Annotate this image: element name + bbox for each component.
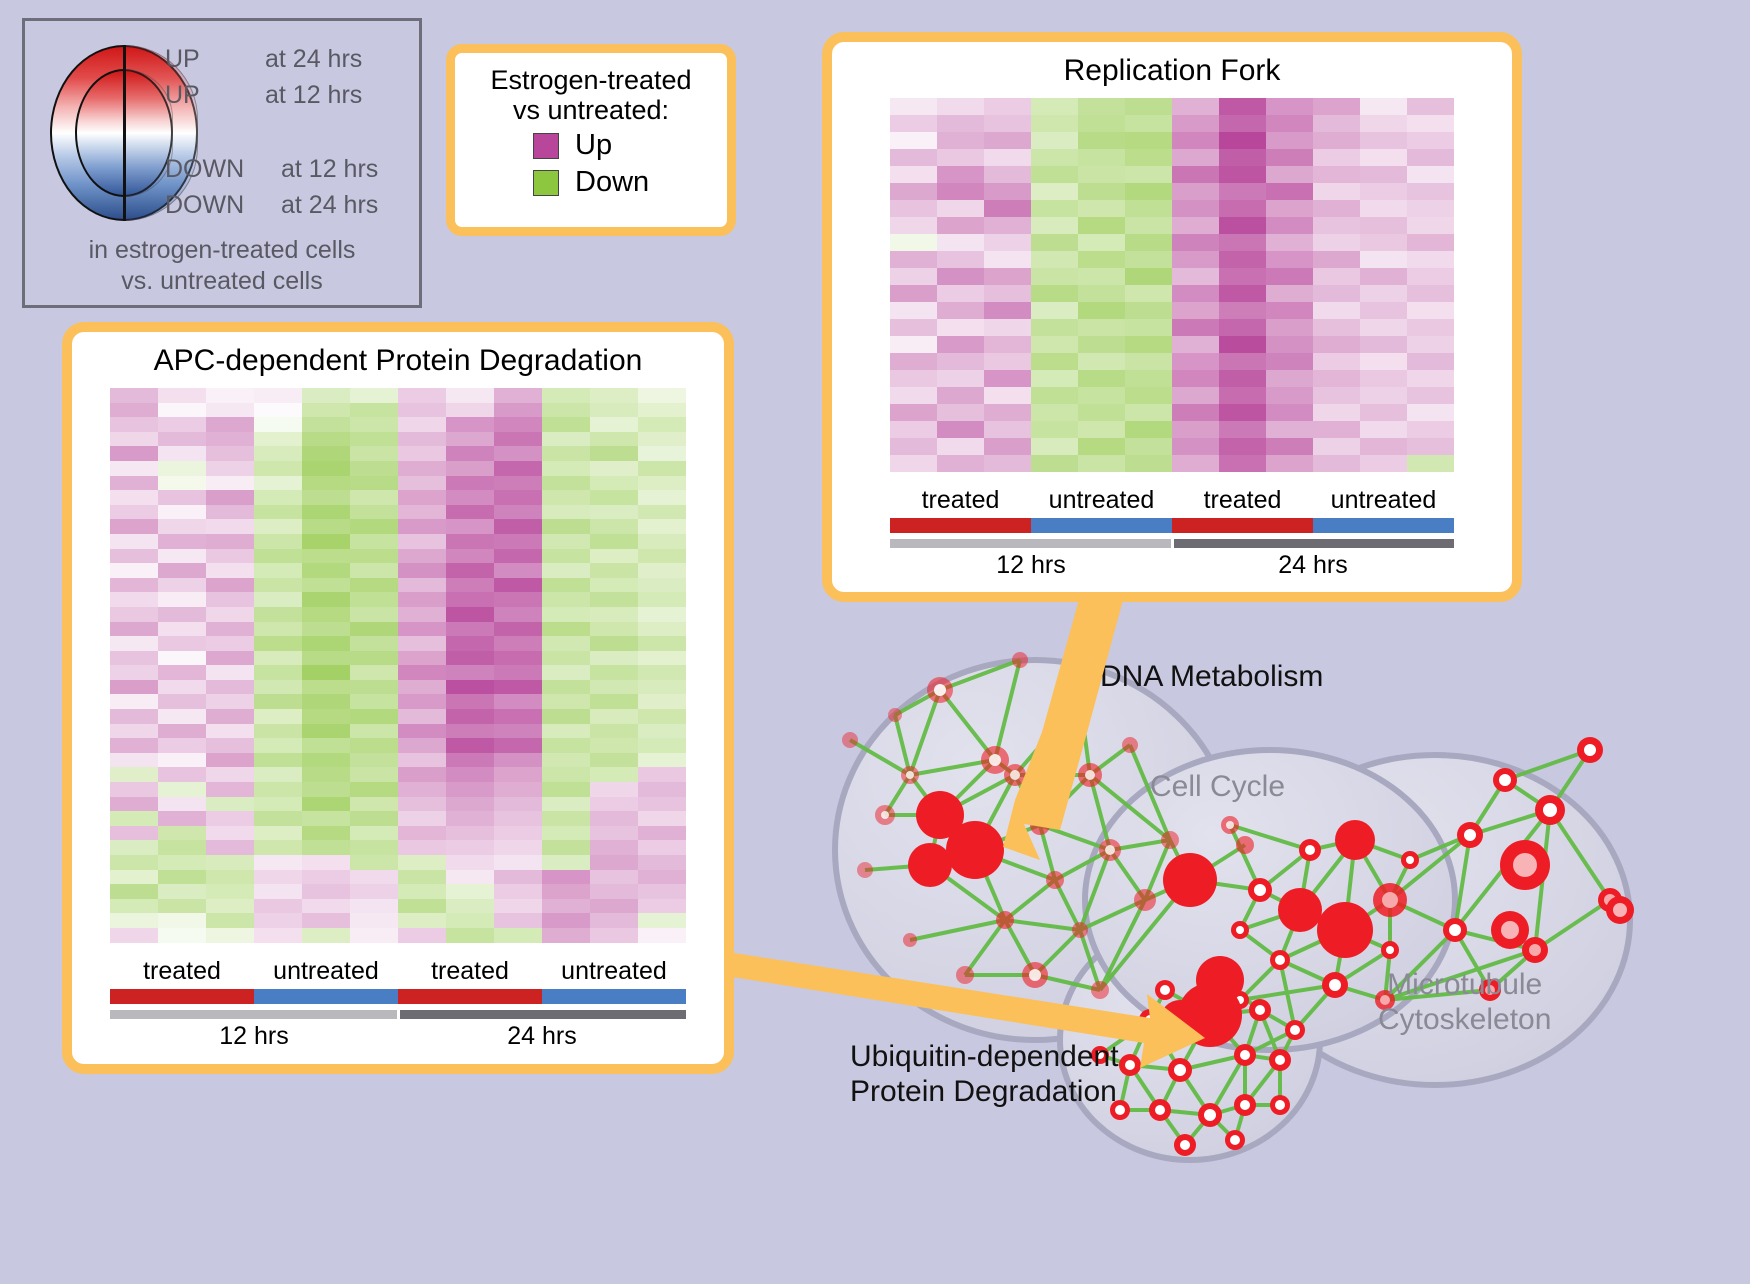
heatmap-cell: [302, 519, 350, 534]
heatmap-cell: [446, 913, 494, 928]
heatmap-cell: [350, 782, 398, 797]
heatmap-cell: [158, 490, 206, 505]
heatmap-cell: [638, 840, 686, 855]
heatmap-cell: [1219, 421, 1266, 438]
heatmap-cell: [542, 665, 590, 680]
heatmap-cell: [158, 665, 206, 680]
heatmap-cell: [302, 636, 350, 651]
heatmap-cell: [398, 607, 446, 622]
heatmap-cell: [206, 694, 254, 709]
heatmap-cell: [206, 563, 254, 578]
heatmap-cell: [984, 268, 1031, 285]
heatmap-cell: [1031, 285, 1078, 302]
heatmap-cell: [1360, 251, 1407, 268]
heatmap-cell: [937, 302, 984, 319]
heatmap-cell: [937, 149, 984, 166]
heatmap-cell: [158, 884, 206, 899]
heatmap-cell: [984, 421, 1031, 438]
heatmap-cell: [542, 899, 590, 914]
heatmap-cell: [494, 403, 542, 418]
heatmap-cell: [494, 607, 542, 622]
heatmap-cell: [446, 840, 494, 855]
heatmap-cell: [542, 563, 590, 578]
heatmap-cell: [1266, 149, 1313, 166]
heatmap-cell: [350, 826, 398, 841]
heatmap-cell: [638, 388, 686, 403]
heatmap-cell: [254, 461, 302, 476]
heatmap-cell: [398, 694, 446, 709]
heatmap-cell: [398, 403, 446, 418]
heatmap-cell: [494, 913, 542, 928]
heatmap-cell: [937, 319, 984, 336]
axis-colorbar-apc: [110, 989, 686, 1004]
microtubule-label-line2: Cytoskeleton: [1378, 1003, 1551, 1038]
heatmap-cell: [350, 870, 398, 885]
heatmap-cell: [110, 724, 158, 739]
heatmap-cell: [302, 578, 350, 593]
heatmap-cell: [350, 446, 398, 461]
heatmap-cell: [494, 388, 542, 403]
heatmap-cell: [1172, 370, 1219, 387]
heatmap-cell: [110, 767, 158, 782]
heatmap-cell: [350, 592, 398, 607]
heatmap-cell: [398, 797, 446, 812]
heatmap-cell: [590, 928, 638, 943]
heatmap-cell: [206, 534, 254, 549]
heatmap-cell: [590, 709, 638, 724]
heatmap-cell: [158, 461, 206, 476]
heatmap-cell: [1313, 98, 1360, 115]
heatmap-cell: [158, 782, 206, 797]
heatmap-cell: [158, 636, 206, 651]
heatmap-cell: [206, 767, 254, 782]
heatmap-cell: [638, 928, 686, 943]
heatmap-cell: [302, 811, 350, 826]
heatmap-cell: [1313, 370, 1360, 387]
heatmap-cell: [494, 519, 542, 534]
heatmap-cell: [590, 826, 638, 841]
heatmap-cell: [398, 855, 446, 870]
heatmap-cell: [206, 797, 254, 812]
heatmap-cell: [890, 217, 937, 234]
heatmap-cell: [254, 928, 302, 943]
heatmap-cell: [158, 724, 206, 739]
heatmap-cell: [890, 285, 937, 302]
heatmap-cell: [254, 549, 302, 564]
heatmap-cell: [1078, 149, 1125, 166]
heatmap-cell: [494, 651, 542, 666]
heatmap-cell: [590, 417, 638, 432]
heatmap-cell: [984, 234, 1031, 251]
heatmap-cell: [398, 534, 446, 549]
heatmap-cell: [638, 651, 686, 666]
heatmap-cell: [1219, 336, 1266, 353]
heatmap-cell: [638, 709, 686, 724]
heatmap-cell: [590, 519, 638, 534]
heatmap-cell: [890, 302, 937, 319]
swatch-up-icon: [533, 133, 559, 159]
axis-time-labels-apc: 12 hrs 24 hrs: [110, 1022, 686, 1051]
heatmap-cell: [446, 446, 494, 461]
heatmap-cell: [398, 476, 446, 491]
heatmap-cell: [302, 840, 350, 855]
heatmap-cell: [937, 336, 984, 353]
heatmap-cell: [638, 622, 686, 637]
heatmap-cell: [254, 476, 302, 491]
heatmap-cell: [638, 665, 686, 680]
heatmap-cell: [494, 490, 542, 505]
heatmap-cell: [110, 753, 158, 768]
heatmap-cell: [890, 336, 937, 353]
heatmap-cell: [1031, 421, 1078, 438]
heatmap-cell: [446, 476, 494, 491]
heatmap-cell: [158, 680, 206, 695]
axis-label-treated-12-apc: treated: [110, 957, 254, 986]
heatmap-cell: [302, 709, 350, 724]
heatmap-cell: [1313, 285, 1360, 302]
heatmap-cell: [494, 592, 542, 607]
heatmap-cell: [110, 811, 158, 826]
heatmap-cell: [542, 490, 590, 505]
heatmap-cell: [110, 928, 158, 943]
heatmap-cell: [1125, 319, 1172, 336]
heatmap-cell: [494, 782, 542, 797]
legend-label-down: Down: [575, 166, 649, 199]
heatmap-cell: [1219, 183, 1266, 200]
ubiquitin-label-line1: Ubiquitin-dependent: [850, 1040, 1119, 1075]
heatmap-cell: [1360, 183, 1407, 200]
heatmap-cell: [890, 370, 937, 387]
heatmap-cell: [1313, 421, 1360, 438]
heatmap-cell: [302, 724, 350, 739]
heatmap-cell: [1219, 98, 1266, 115]
bar-untreated-12: [1031, 518, 1172, 533]
heatmap-cell: [590, 505, 638, 520]
heatmap-cell: [542, 840, 590, 855]
heatmap-cell: [206, 680, 254, 695]
heatmap-cell: [254, 563, 302, 578]
heatmap-cell: [1031, 166, 1078, 183]
heatmap-cell: [302, 417, 350, 432]
heatmap-cell: [1219, 166, 1266, 183]
heatmap-cell: [302, 680, 350, 695]
heatmap-cell: [110, 403, 158, 418]
heatmap-cell: [158, 840, 206, 855]
heatmap-cell: [1125, 183, 1172, 200]
heatmap-cell: [590, 870, 638, 885]
heatmap-cell: [158, 476, 206, 491]
heatmap-cell: [542, 826, 590, 841]
heatmap-cell: [1078, 166, 1125, 183]
heatmap-cell: [398, 884, 446, 899]
heatmap-cell: [398, 738, 446, 753]
wheel-text-down-12: at 12 hrs: [281, 155, 378, 184]
heatmap-cell: [350, 607, 398, 622]
heatmap-cell: [446, 592, 494, 607]
heatmap-cell: [1360, 336, 1407, 353]
heatmap-cell: [1266, 234, 1313, 251]
heatmap-cell: [110, 884, 158, 899]
legend-title-line2: vs untreated:: [469, 95, 713, 125]
heatmap-cell: [350, 622, 398, 637]
heatmap-cell: [110, 490, 158, 505]
heatmap-cell: [1078, 455, 1125, 472]
heatmap-cell: [890, 200, 937, 217]
heatmap-cell: [638, 738, 686, 753]
time-label-24hrs-apc: 24 hrs: [398, 1022, 686, 1051]
heatmap-cell: [1407, 353, 1454, 370]
heatmap-cell: [590, 738, 638, 753]
heatmap-cell: [1125, 217, 1172, 234]
heatmap-cell: [110, 578, 158, 593]
heatmap-cell: [446, 490, 494, 505]
panel-replication-fork: Replication Fork treated untreated treat…: [822, 32, 1522, 602]
heatmap-cell: [890, 438, 937, 455]
heatmap-cell: [446, 870, 494, 885]
heatmap-cell: [638, 446, 686, 461]
heatmap-cell: [1313, 200, 1360, 217]
network-diagram: DNA Metabolism Cell Cycle Microtubule Cy…: [790, 600, 1750, 1279]
heatmap-cell: [638, 417, 686, 432]
heatmap-cell: [158, 432, 206, 447]
heatmap-cell: [542, 767, 590, 782]
heatmap-cell: [110, 476, 158, 491]
heatmap-cell: [446, 505, 494, 520]
heatmap-cell: [206, 417, 254, 432]
heatmap-cell: [254, 665, 302, 680]
heatmap-cell: [638, 884, 686, 899]
axis-label-treated-24: treated: [1172, 486, 1313, 515]
bar-untreated-12-apc: [254, 989, 398, 1004]
heatmap-cell: [890, 353, 937, 370]
heatmap-cell: [254, 505, 302, 520]
heatmap-cell: [638, 607, 686, 622]
heatmap-cell: [1313, 217, 1360, 234]
heatmap-cell: [398, 432, 446, 447]
heatmap-cell: [302, 665, 350, 680]
heatmap-cell: [590, 607, 638, 622]
heatmap-cell: [1219, 370, 1266, 387]
bar-treated-12: [890, 518, 1031, 533]
heatmap-cell: [590, 432, 638, 447]
heatmap-cell: [1172, 183, 1219, 200]
heatmap-cell: [1360, 302, 1407, 319]
heatmap-cell: [110, 549, 158, 564]
heatmap-cell: [494, 870, 542, 885]
heatmap-cell: [398, 811, 446, 826]
heatmap-cell: [398, 622, 446, 637]
bar-untreated-24: [1313, 518, 1454, 533]
heatmap-cell: [1266, 268, 1313, 285]
bar-treated-24-apc: [398, 989, 542, 1004]
heatmap-cell: [494, 578, 542, 593]
heatmap-cell: [638, 549, 686, 564]
heatmap-cell: [1360, 404, 1407, 421]
heatmap-cell: [206, 782, 254, 797]
heatmap-cell: [398, 388, 446, 403]
heatmap-cell: [206, 884, 254, 899]
heatmap-cell: [1360, 370, 1407, 387]
heatmap-cell: [1172, 115, 1219, 132]
heatmap-cell: [158, 592, 206, 607]
heatmap-cell: [590, 884, 638, 899]
heatmap-cell: [446, 811, 494, 826]
heatmap-cell: [542, 578, 590, 593]
heatmap-cell: [206, 665, 254, 680]
heatmap-apc-degradation: [110, 388, 686, 943]
heatmap-cell: [350, 855, 398, 870]
heatmap-cell: [638, 826, 686, 841]
heatmap-cell: [590, 388, 638, 403]
heatmap-cell: [398, 870, 446, 885]
heatmap-cell: [1031, 438, 1078, 455]
heatmap-cell: [890, 455, 937, 472]
heatmap-cell: [984, 251, 1031, 268]
heatmap-cell: [638, 534, 686, 549]
heatmap-cell: [350, 403, 398, 418]
wheel-key-down-24: DOWN: [165, 191, 244, 220]
heatmap-cell: [350, 665, 398, 680]
heatmap-cell: [1313, 166, 1360, 183]
heatmap-cell: [350, 490, 398, 505]
heatmap-cell: [1078, 200, 1125, 217]
heatmap-cell: [1125, 98, 1172, 115]
heatmap-cell: [302, 884, 350, 899]
heatmap-cell: [1360, 217, 1407, 234]
heatmap-cell: [446, 563, 494, 578]
heatmap-cell: [1031, 268, 1078, 285]
heatmap-cell: [350, 578, 398, 593]
heatmap-cell: [110, 461, 158, 476]
heatmap-cell: [590, 680, 638, 695]
heatmap-cell: [542, 622, 590, 637]
heatmap-cell: [398, 840, 446, 855]
heatmap-cell: [494, 767, 542, 782]
heatmap-cell: [1125, 166, 1172, 183]
heatmap-cell: [494, 505, 542, 520]
heatmap-cell: [1360, 387, 1407, 404]
heatmap-cell: [984, 200, 1031, 217]
heatmap-cell: [638, 490, 686, 505]
heatmap-cell: [590, 578, 638, 593]
heatmap-cell: [1031, 115, 1078, 132]
heatmap-cell: [494, 928, 542, 943]
heatmap-cell: [494, 549, 542, 564]
heatmap-cell: [638, 432, 686, 447]
heatmap-cell: [158, 913, 206, 928]
heatmap-cell: [398, 549, 446, 564]
heatmap-cell: [1266, 370, 1313, 387]
heatmap-cell: [590, 767, 638, 782]
heatmap-cell: [1407, 421, 1454, 438]
heatmap-cell: [206, 870, 254, 885]
heatmap-cell: [494, 738, 542, 753]
heatmap-cell: [254, 607, 302, 622]
heatmap-cell: [446, 694, 494, 709]
heatmap-cell: [398, 913, 446, 928]
heatmap-cell: [350, 797, 398, 812]
heatmap-cell: [1172, 455, 1219, 472]
bar-treated-24: [1172, 518, 1313, 533]
heatmap-cell: [1407, 98, 1454, 115]
heatmap-cell: [984, 217, 1031, 234]
heatmap-cell: [638, 403, 686, 418]
timebar-12hrs-apc: [110, 1010, 397, 1019]
heatmap-cell: [542, 855, 590, 870]
heatmap-cell: [1407, 217, 1454, 234]
heatmap-cell: [398, 665, 446, 680]
heatmap-cell: [984, 438, 1031, 455]
heatmap-cell: [254, 913, 302, 928]
heatmap-cell: [890, 98, 937, 115]
cluster-label-ubiquitin: Ubiquitin-dependent Protein Degradation: [850, 1040, 1119, 1109]
heatmap-cell: [1125, 234, 1172, 251]
heatmap-cell: [590, 490, 638, 505]
heatmap-cell: [590, 446, 638, 461]
axis-colorbar-rep: [890, 518, 1454, 533]
heatmap-cell: [446, 680, 494, 695]
heatmap-cell: [984, 115, 1031, 132]
heatmap-cell: [1219, 268, 1266, 285]
heatmap-cell: [638, 592, 686, 607]
heatmap-cell: [254, 680, 302, 695]
heatmap-cell: [984, 132, 1031, 149]
heatmap-cell: [254, 490, 302, 505]
heatmap-cell: [110, 797, 158, 812]
heatmap-cell: [1078, 115, 1125, 132]
heatmap-cell: [494, 899, 542, 914]
heatmap-cell: [494, 432, 542, 447]
heatmap-cell: [1078, 183, 1125, 200]
heatmap-cell: [542, 884, 590, 899]
heatmap-cell: [446, 578, 494, 593]
heatmap-cell: [1125, 115, 1172, 132]
heatmap-cell: [937, 98, 984, 115]
heatmap-cell: [494, 797, 542, 812]
heatmap-cell: [638, 461, 686, 476]
heatmap-cell: [984, 404, 1031, 421]
wheel-key-down-12: DOWN: [165, 155, 244, 184]
heatmap-cell: [1125, 438, 1172, 455]
heatmap-cell: [937, 370, 984, 387]
axis-label-untreated-24: untreated: [1313, 486, 1454, 515]
heatmap-cell: [984, 353, 1031, 370]
heatmap-cell: [302, 592, 350, 607]
heatmap-cell: [1407, 370, 1454, 387]
heatmap-cell: [302, 403, 350, 418]
heatmap-cell: [446, 417, 494, 432]
heatmap-cell: [350, 461, 398, 476]
heatmap-cell: [542, 811, 590, 826]
heatmap-cell: [1125, 370, 1172, 387]
heatmap-cell: [446, 753, 494, 768]
heatmap-cell: [446, 928, 494, 943]
heatmap-cell: [350, 417, 398, 432]
heatmap-cell: [494, 636, 542, 651]
heatmap-cell: [1407, 234, 1454, 251]
heatmap-cell: [1078, 234, 1125, 251]
heatmap-cell: [542, 870, 590, 885]
heatmap-cell: [1266, 438, 1313, 455]
heatmap-cell: [890, 387, 937, 404]
heatmap-cell: [254, 797, 302, 812]
heatmap-cell: [1031, 200, 1078, 217]
heatmap-cell: [446, 855, 494, 870]
heatmap-cell: [158, 549, 206, 564]
heatmap-cell: [638, 694, 686, 709]
heatmap-cell: [542, 694, 590, 709]
heatmap-cell: [254, 870, 302, 885]
